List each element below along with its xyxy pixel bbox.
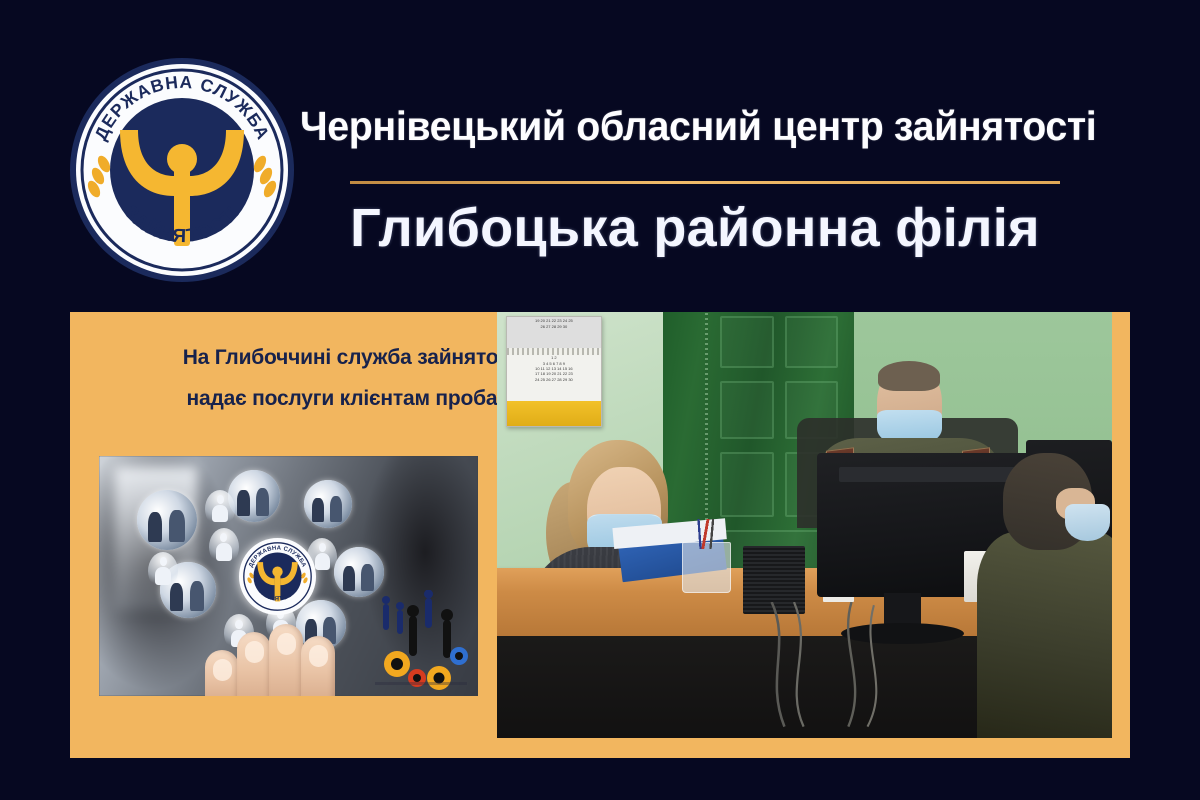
concept-photo-circle [304,480,352,528]
calendar-footer-band [507,401,600,426]
branch-title: Глибоцька районна філія [300,197,1090,259]
concept-person-icon [205,490,235,528]
concept-center-emblem: ДЕРЖАВНА СЛУЖБА ЗАЙНЯТОСТІ [239,538,316,615]
state-employment-service-logo: ДЕРЖАВНА СЛУЖБА ЗАЙНЯТОСТІ [68,56,296,284]
probation-office-consultation-photo: 19 20 21 22 23 24 25 26 27 28 29 30 1 2 … [497,312,1112,738]
caption-line-2: надає послуги клієнтам пробації [152,379,556,420]
calendar-row: 26 27 28 29 30 [508,324,599,329]
concept-photo-circle [228,470,280,522]
concept-photo-circle [137,490,197,550]
photo-man-foreground [977,453,1112,738]
organization-title: Чернівецький обласний центр зайнятості [300,103,1058,150]
photo-wall-calendar: 19 20 21 22 23 24 25 26 27 28 29 30 1 2 … [506,316,601,427]
caption-line-1: На Глибоччині служба зайнятості [152,338,556,379]
photo-cables [731,602,940,730]
photo-face-mask [1065,504,1109,541]
title-divider [350,181,1060,184]
concept-hand [205,606,365,696]
calendar-current-month: 1 2 3 4 5 6 7 8 9 10 11 12 13 14 15 16 1… [507,355,600,401]
content-panel: На Глибоччині служба зайнятості надає по… [70,312,1130,758]
calendar-row: 24 25 26 27 28 29 30 [507,377,600,382]
emblem-icon-small: ДЕРЖАВНА СЛУЖБА ЗАЙНЯТОСТІ [239,538,316,615]
concept-gears-people-icon [367,590,473,694]
page-header: ДЕРЖАВНА СЛУЖБА ЗАЙНЯТОСТІ Чернівецький … [0,0,1200,300]
calendar-spiral [507,348,600,356]
employment-network-concept-image: ДЕРЖАВНА СЛУЖБА ЗАЙНЯТОСТІ [99,456,478,696]
photo-pen-holder [682,542,731,593]
concept-person-icon [209,528,239,566]
article-caption: На Глибоччині служба зайнятості надає по… [152,338,556,420]
calendar-previous-month: 19 20 21 22 23 24 25 26 27 28 29 30 [507,317,600,347]
emblem-icon: ДЕРЖАВНА СЛУЖБА ЗАЙНЯТОСТІ [68,56,296,284]
